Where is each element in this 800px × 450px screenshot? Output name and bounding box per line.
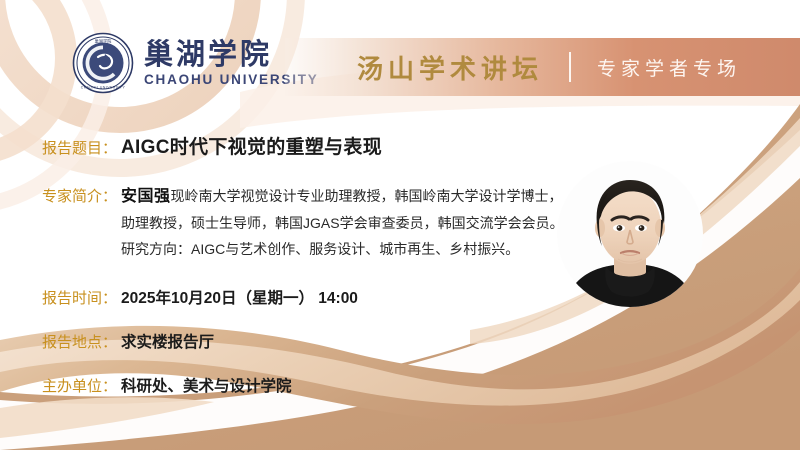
place-value: 求实楼报告厅 <box>121 330 214 352</box>
poster-header: 巢湖学院 CHAOHU UNIVERSITY 巢湖学院 CHAOHU UNIVE… <box>0 0 800 110</box>
banner-divider <box>569 52 571 82</box>
bio-line-1: 安国强现岭南大学视觉设计专业助理教授，韩国岭南大学设计学博士， <box>121 183 564 210</box>
place-label: 报告地点： <box>42 331 117 352</box>
banner-subtitle: 专家学者专场 <box>597 54 741 81</box>
svg-text:CHAOHU UNIVERSITY: CHAOHU UNIVERSITY <box>81 86 126 90</box>
poster-content: 报告题目： AIGC时代下视觉的重塑与表现 专家简介： 安国强现岭南大学视觉设计… <box>42 132 602 396</box>
place-row: 报告地点： 求实楼报告厅 <box>42 330 602 352</box>
bio-line-2: 助理教授，硕士生导师，韩国JGAS学会审查委员，韩国交流学会会员。 <box>121 210 564 236</box>
bio-line-3: 研究方向：AIGC与艺术创作、服务设计、城市再生、乡村振兴。 <box>121 236 564 262</box>
topic-label: 报告题目： <box>42 137 117 158</box>
speaker-portrait-photo <box>556 160 704 308</box>
bio-body: 安国强现岭南大学视觉设计专业助理教授，韩国岭南大学设计学博士， 助理教授，硕士生… <box>121 183 564 262</box>
event-banner: 汤山学术讲坛 专家学者专场 <box>285 38 800 96</box>
bio-line-1-rest: 现岭南大学视觉设计专业助理教授，韩国岭南大学设计学博士， <box>171 188 563 204</box>
organizer-row: 主办单位： 科研处、美术与设计学院 <box>42 374 602 396</box>
bio-row: 专家简介： 安国强现岭南大学视觉设计专业助理教授，韩国岭南大学设计学博士， 助理… <box>42 183 602 262</box>
chaohu-university-seal-icon: 巢湖学院 CHAOHU UNIVERSITY <box>72 32 134 94</box>
svg-text:巢湖学院: 巢湖学院 <box>95 38 113 45</box>
time-value: 2025年10月20日（星期一） 14:00 <box>121 286 358 308</box>
bio-label: 专家简介： <box>42 185 117 206</box>
time-label: 报告时间： <box>42 287 117 308</box>
time-row: 报告时间： 2025年10月20日（星期一） 14:00 <box>42 286 602 308</box>
university-logo-block: 巢湖学院 CHAOHU UNIVERSITY 巢湖学院 CHAOHU UNIVE… <box>72 32 319 94</box>
organizer-label: 主办单位： <box>42 375 117 396</box>
topic-row: 报告题目： AIGC时代下视觉的重塑与表现 <box>42 132 602 159</box>
organizer-value: 科研处、美术与设计学院 <box>121 374 292 396</box>
seminar-poster: 巢湖学院 CHAOHU UNIVERSITY 巢湖学院 CHAOHU UNIVE… <box>0 0 800 450</box>
speaker-name: 安国强 <box>121 188 171 205</box>
banner-title: 汤山学术讲坛 <box>357 49 543 86</box>
topic-value: AIGC时代下视觉的重塑与表现 <box>121 132 382 159</box>
